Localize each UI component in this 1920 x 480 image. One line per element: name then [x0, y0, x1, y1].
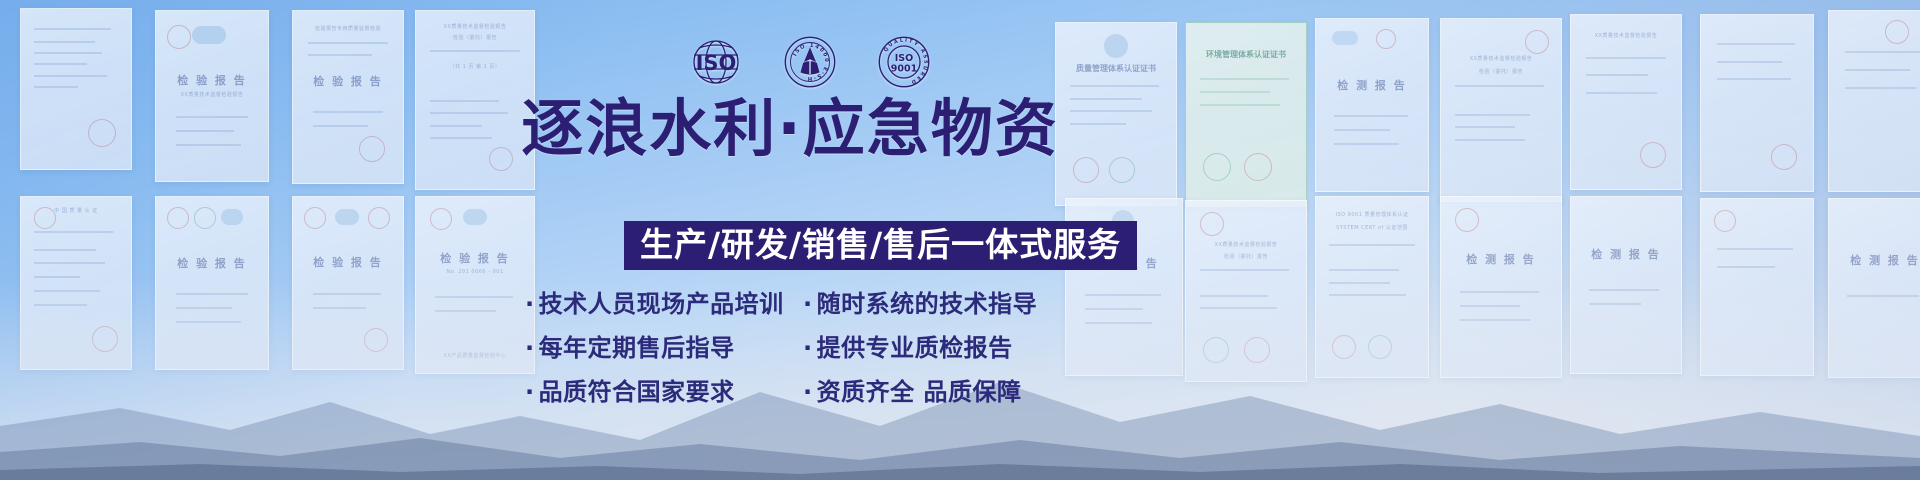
certificate-thumbnail: 质量管理体系认证证书 — [1055, 22, 1177, 206]
certificate-title: 检 测 报 告 — [1441, 251, 1561, 267]
certificate-thumbnail: 检 测 报 告 — [1315, 18, 1429, 192]
certificate-thumbnail: XX质量技术监督检验报告 — [1570, 14, 1682, 190]
certificate-thumbnail: XX质量技术监督检验报告 检验（委托）报告 — [1440, 18, 1562, 202]
feature-label: 资质齐全 品质保障 — [817, 380, 1022, 404]
iso-9001-quality-assured-badge: QUALITY ASSURED ISO 9001 — [878, 36, 930, 88]
certificate-title: 检 验 报 告 — [416, 250, 534, 266]
certificate-title: 检 验 报 告 — [293, 73, 403, 89]
iso-9001-line1: ISO — [895, 53, 913, 64]
feature-item: · 资质齐全 品质保障 — [803, 380, 1085, 404]
certificate-title: 检 验 报 告 — [156, 255, 268, 271]
feature-label: 每年定期售后指导 — [539, 336, 735, 360]
certificate-title: 检 测 报 告 — [1316, 77, 1428, 93]
certificate-subtitle: XX质量技术监督检验报告 — [156, 91, 268, 98]
certificate-title: 检 验 报 告 — [293, 254, 403, 270]
banner-headline: 逐浪水利·应急物资 — [510, 98, 1070, 160]
certificate-thumbnail — [1828, 10, 1920, 192]
certification-badges: ISO ISO 14000 E·S·H QUALITY ASSURED — [690, 36, 930, 88]
bullet-dot-icon: · — [803, 336, 813, 360]
feature-item: · 随时系统的技术指导 — [803, 292, 1085, 316]
iso-14000-esh-badge: ISO 14000 E·S·H — [784, 36, 836, 88]
feature-label: 随时系统的技术指导 — [817, 292, 1038, 316]
banner-subtitle-ribbon: 生产/研发/销售/售后一体式服务 — [624, 221, 1137, 270]
certificate-thumbnail — [1700, 14, 1814, 192]
certificate-title: 检 验 报 告 — [156, 72, 268, 88]
certificate-thumbnail: 检 验 报 告 XX质量技术监督检验报告 — [155, 10, 269, 182]
bullet-dot-icon: · — [803, 380, 813, 404]
feature-list: · 技术人员现场产品培训 · 随时系统的技术指导 · 每年定期售后指导 · 提供… — [525, 292, 1085, 404]
feature-item: · 提供专业质检报告 — [803, 336, 1085, 360]
feature-item: · 每年定期售后指导 — [525, 336, 803, 360]
bullet-dot-icon: · — [803, 292, 813, 316]
certificate-title: 检 测 报 告 — [1829, 252, 1920, 268]
feature-item: · 品质符合国家要求 — [525, 380, 803, 404]
certificate-title: 环境管理体系认证证书 — [1186, 49, 1306, 60]
certificate-thumbnail: 检验报告专用质量监督检验 检 验 报 告 — [292, 10, 404, 184]
certificate-title: 质量管理体系认证证书 — [1056, 63, 1176, 74]
certificate-thumbnail: 环境管理体系认证证书 — [1185, 22, 1307, 208]
certificate-thumbnail — [20, 8, 132, 170]
feature-label: 提供专业质检报告 — [817, 336, 1013, 360]
iso-globe-label: ISO — [696, 51, 737, 75]
bullet-dot-icon: · — [525, 380, 535, 404]
iso-globe-badge: ISO — [690, 39, 742, 85]
feature-label: 技术人员现场产品培训 — [539, 292, 784, 316]
promo-banner: 检 验 报 告 XX质量技术监督检验报告 检验报告专用质量监督检验 检 验 报 … — [0, 0, 1920, 480]
feature-label: 品质符合国家要求 — [539, 380, 735, 404]
bullet-dot-icon: · — [525, 336, 535, 360]
certificate-title: 检 测 报 告 — [1571, 246, 1681, 262]
bullet-dot-icon: · — [525, 292, 535, 316]
iso-9001-line2: 9001 — [891, 64, 917, 75]
feature-item: · 技术人员现场产品培训 — [525, 292, 803, 316]
